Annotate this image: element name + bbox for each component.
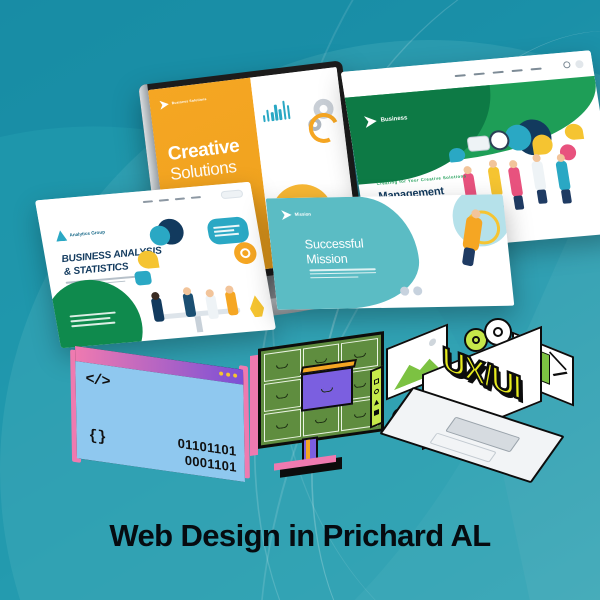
logo-mark-icon [55,230,68,242]
binary-text: 01101101 0001101 [178,436,237,475]
text-placeholder-line [310,272,376,275]
person-figure [151,298,165,323]
code-brace-icon: {} [88,427,106,447]
triangle-tool-icon[interactable] [374,399,379,406]
bar [271,112,275,121]
card-title: Successful Mission [304,237,366,268]
bar [287,105,291,119]
bar [266,110,270,122]
card-logo-label: Mission [294,212,311,218]
search-input[interactable] [220,189,243,199]
nav-item-placeholder[interactable] [530,68,541,71]
card-logo: Mission [281,210,312,220]
cabinet-drawer[interactable] [264,409,301,442]
logo-mark-icon [364,115,378,128]
bar-chart-icon [261,99,291,122]
nav-item-placeholder[interactable] [493,71,504,74]
decor-blob [564,123,584,140]
pagination-dots[interactable] [400,286,423,295]
text-placeholder-line [215,233,239,237]
person-figure [487,166,503,197]
card-logo: Analytics Group [55,227,106,242]
fill-tool-icon[interactable] [374,409,379,416]
bar [279,109,283,120]
text-placeholder-line [71,322,115,327]
text-placeholder-line [70,317,110,322]
bar [274,105,279,121]
text-placeholder-line [213,225,239,229]
text-placeholder-line [214,229,234,232]
window-dot[interactable] [219,371,223,376]
plant-icon [248,295,266,318]
cabinet-drawer[interactable] [264,379,301,412]
card-logo-label: Analytics Group [69,229,106,238]
progress-ring-icon [305,109,343,147]
text-placeholder-line [309,268,375,271]
wireframe-line [549,351,566,370]
person-figure [205,295,219,320]
chat-bubble-icon [206,216,251,245]
sun-icon [429,337,436,347]
open-drawer[interactable] [301,367,354,412]
toolbar-palette[interactable] [370,365,383,428]
gear-icon [232,241,258,265]
person-figure [555,160,571,191]
window-dot[interactable] [233,373,237,378]
lightbulb-icon [136,250,159,269]
window-dot[interactable] [226,372,230,377]
nav-item-placeholder[interactable] [191,196,201,199]
bar [282,101,287,120]
cabinet-drawer[interactable] [264,349,301,382]
text-placeholder-line [310,276,358,278]
decor-blob [448,147,466,162]
nav-item-placeholder[interactable] [512,69,523,72]
meeting-illustration [124,208,270,335]
wireframe-line [553,372,568,376]
bar [262,115,265,122]
monitor-logo: Business Solutions [159,95,207,110]
nav-item-placeholder[interactable] [474,72,485,75]
card-title-line2: Mission [306,252,349,267]
person-figure [531,161,547,192]
monitor-logo-label: Business Solutions [172,97,207,105]
nav-item-placeholder[interactable] [159,199,169,202]
person-figure [462,215,483,252]
document-icon [466,135,490,152]
filing-cabinet-monitor [258,331,384,449]
illustration-canvas: Business Solutions Creative Solutions Di… [0,0,600,600]
cabinet-body [258,331,384,449]
circle-tool-icon[interactable] [374,388,379,395]
uxui-laptop: UX/UI [386,322,566,482]
nav-item-placeholder[interactable] [455,74,466,77]
card-title-line1: Successful [304,237,364,252]
page-title: Web Design in Prichard AL [0,518,600,554]
square-tool-icon[interactable] [374,378,379,385]
play-button-icon [134,270,152,285]
monitor-headline: Creative Solutions [167,135,243,184]
window-frame: </> {} 01101101 0001101 [75,346,245,482]
successful-mission-card: Mission Successful Mission [266,194,515,310]
card-logo-label: Business [380,115,408,123]
nav-item-placeholder[interactable] [175,197,185,200]
pagination-dot[interactable] [413,286,423,295]
cabinet-edge-accent [250,355,258,456]
card-body-placeholder [309,268,376,281]
logo-mark-icon [159,100,169,110]
pagination-dot[interactable] [400,287,410,296]
search-icon[interactable] [563,61,571,69]
business-analysis-statistics-card: Analytics Group BUSINESS ANALYSIS & STAT… [35,182,276,349]
code-tag-icon: </> [85,370,109,390]
code-window: </> {} 01101101 0001101 [75,346,245,482]
nav-item-placeholder[interactable] [143,200,153,203]
person-figure [508,167,524,198]
avatar[interactable] [575,60,584,69]
logo-mark-icon [281,210,292,220]
